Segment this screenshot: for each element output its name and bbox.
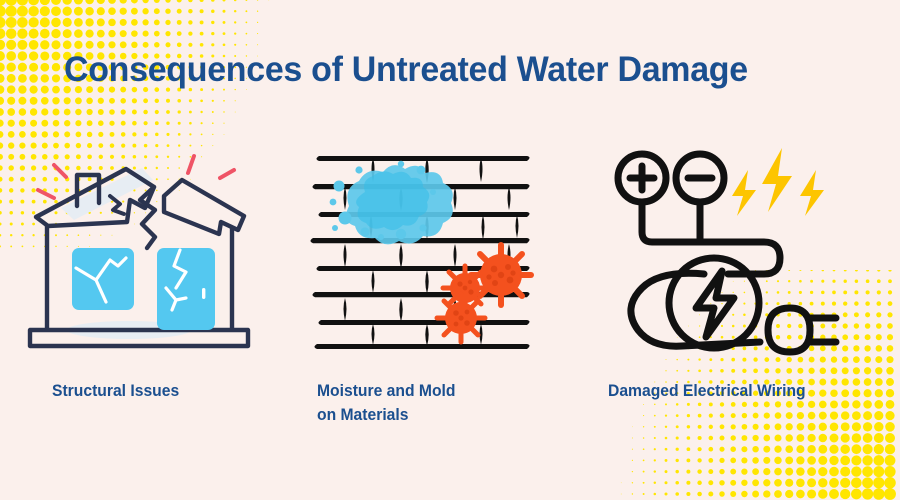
caption-line: Structural Issues — [52, 380, 179, 404]
caption-damaged-electrical-wiring: Damaged Electrical Wiring — [608, 380, 806, 404]
infographic-canvas: Consequences of Untreated Water Damage — [0, 0, 900, 500]
caption-line: Moisture and Mold — [317, 380, 455, 404]
page-title: Consequences of Untreated Water Damage — [64, 50, 840, 90]
column-damaged-electrical-wiring: Damaged Electrical Wiring — [596, 140, 886, 460]
cracked-house-icon — [14, 140, 304, 365]
mold-on-brick-wall-icon — [305, 140, 595, 365]
damaged-electrical-wiring-icon — [596, 140, 886, 365]
caption-structural-issues: Structural Issues — [52, 380, 179, 404]
caption-line: on Materials — [317, 404, 455, 428]
column-moisture-and-mold: Moisture and Mold on Materials — [305, 140, 595, 460]
column-structural-issues: Structural Issues — [14, 140, 304, 460]
caption-moisture-and-mold: Moisture and Mold on Materials — [317, 380, 455, 428]
caption-line: Damaged Electrical Wiring — [608, 380, 806, 404]
